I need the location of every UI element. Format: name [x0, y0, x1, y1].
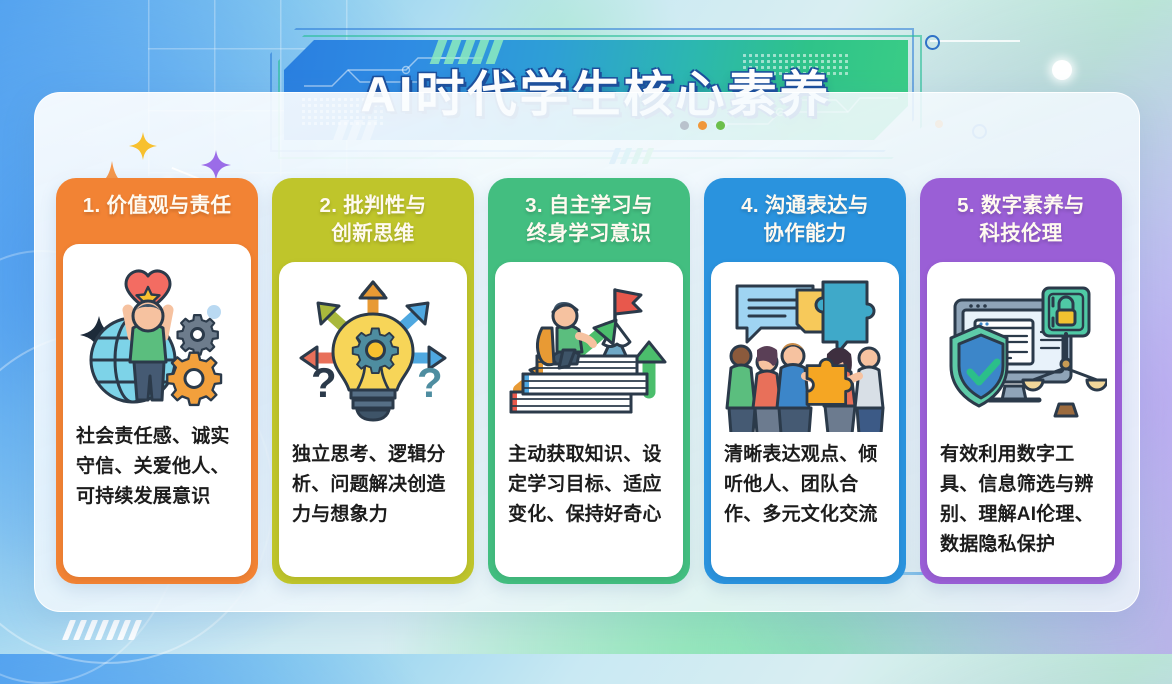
student-books-mountain-flag-icon — [495, 266, 683, 438]
card-desc-3: 主动获取知识、设定学习目标、适应变化、保持好奇心 — [495, 438, 683, 530]
card-title-3-line-1: 3. 自主学习与 — [488, 192, 690, 220]
card-communication-collaboration[interactable]: 4. 沟通表达与 协作能力 — [704, 178, 906, 584]
card-value-responsibility[interactable]: 1. 价值观与责任 — [56, 178, 258, 584]
background-connector-line-right — [930, 40, 1020, 42]
card-title-1-line-1: 1. 价值观与责任 — [56, 192, 258, 220]
background-glow-dot — [1052, 60, 1072, 80]
card-desc-5: 有效利用数字工具、信息筛选与辨别、理解AI伦理、数据隐私保护 — [927, 438, 1115, 560]
card-desc-1: 社会责任感、诚实守信、关爱他人、可持续发展意识 — [63, 420, 251, 512]
card-desc-2: 独立思考、逻辑分析、问题解决创造力与想象力 — [279, 438, 467, 530]
card-desc-4: 清晰表达观点、倾听他人、团队合作、多元文化交流 — [711, 438, 899, 530]
card-title-3-line-2: 终身学习意识 — [488, 220, 690, 248]
card-body-5: 有效利用数字工具、信息筛选与辨别、理解AI伦理、数据隐私保护 — [927, 262, 1115, 577]
card-title-3: 3. 自主学习与 终身学习意识 — [488, 192, 690, 248]
decor-dots-trio — [680, 121, 725, 130]
card-title-2-line-2: 创新思维 — [272, 220, 474, 248]
card-body-4: 清晰表达观点、倾听他人、团队合作、多元文化交流 — [711, 262, 899, 577]
card-title-4-line-2: 协作能力 — [704, 220, 906, 248]
svg-text:?: ? — [311, 359, 337, 406]
card-title-4-line-1: 4. 沟通表达与 — [704, 192, 906, 220]
card-body-3: 主动获取知识、设定学习目标、适应变化、保持好奇心 — [495, 262, 683, 577]
card-digital-literacy-ethics[interactable]: 5. 数字素养与 科技伦理 — [920, 178, 1122, 584]
card-title-5: 5. 数字素养与 科技伦理 — [920, 192, 1122, 248]
yellow-star-icon — [128, 131, 158, 161]
card-self-lifelong-learning[interactable]: 3. 自主学习与 终身学习意识 — [488, 178, 690, 584]
card-body-1: 社会责任感、诚实守信、关爱他人、可持续发展意识 — [63, 244, 251, 577]
purple-star-icon — [200, 149, 232, 181]
decor-slashes-bottom-left — [66, 620, 138, 640]
lightbulb-gear-arrows-icon: ? ? — [279, 266, 467, 438]
svg-text:?: ? — [417, 359, 443, 406]
card-title-1: 1. 价值观与责任 — [56, 192, 258, 220]
card-title-4: 4. 沟通表达与 协作能力 — [704, 192, 906, 248]
competency-cards-list: 1. 价值观与责任 — [56, 178, 1122, 584]
monitor-shield-lock-scales-icon — [927, 266, 1115, 438]
card-critical-innovative-thinking[interactable]: 2. 批判性与 创新思维 — [272, 178, 474, 584]
card-title-5-line-2: 科技伦理 — [920, 220, 1122, 248]
speech-bubbles-puzzle-team-icon — [711, 266, 899, 438]
card-title-5-line-1: 5. 数字素养与 — [920, 192, 1122, 220]
card-body-2: ? ? 独立思考、逻辑分析、问题解决创造力与想象力 — [279, 262, 467, 577]
person-heart-globe-gears-icon — [63, 248, 251, 420]
background-ring-node — [925, 35, 940, 50]
card-title-2: 2. 批判性与 创新思维 — [272, 192, 474, 248]
card-title-2-line-1: 2. 批判性与 — [272, 192, 474, 220]
